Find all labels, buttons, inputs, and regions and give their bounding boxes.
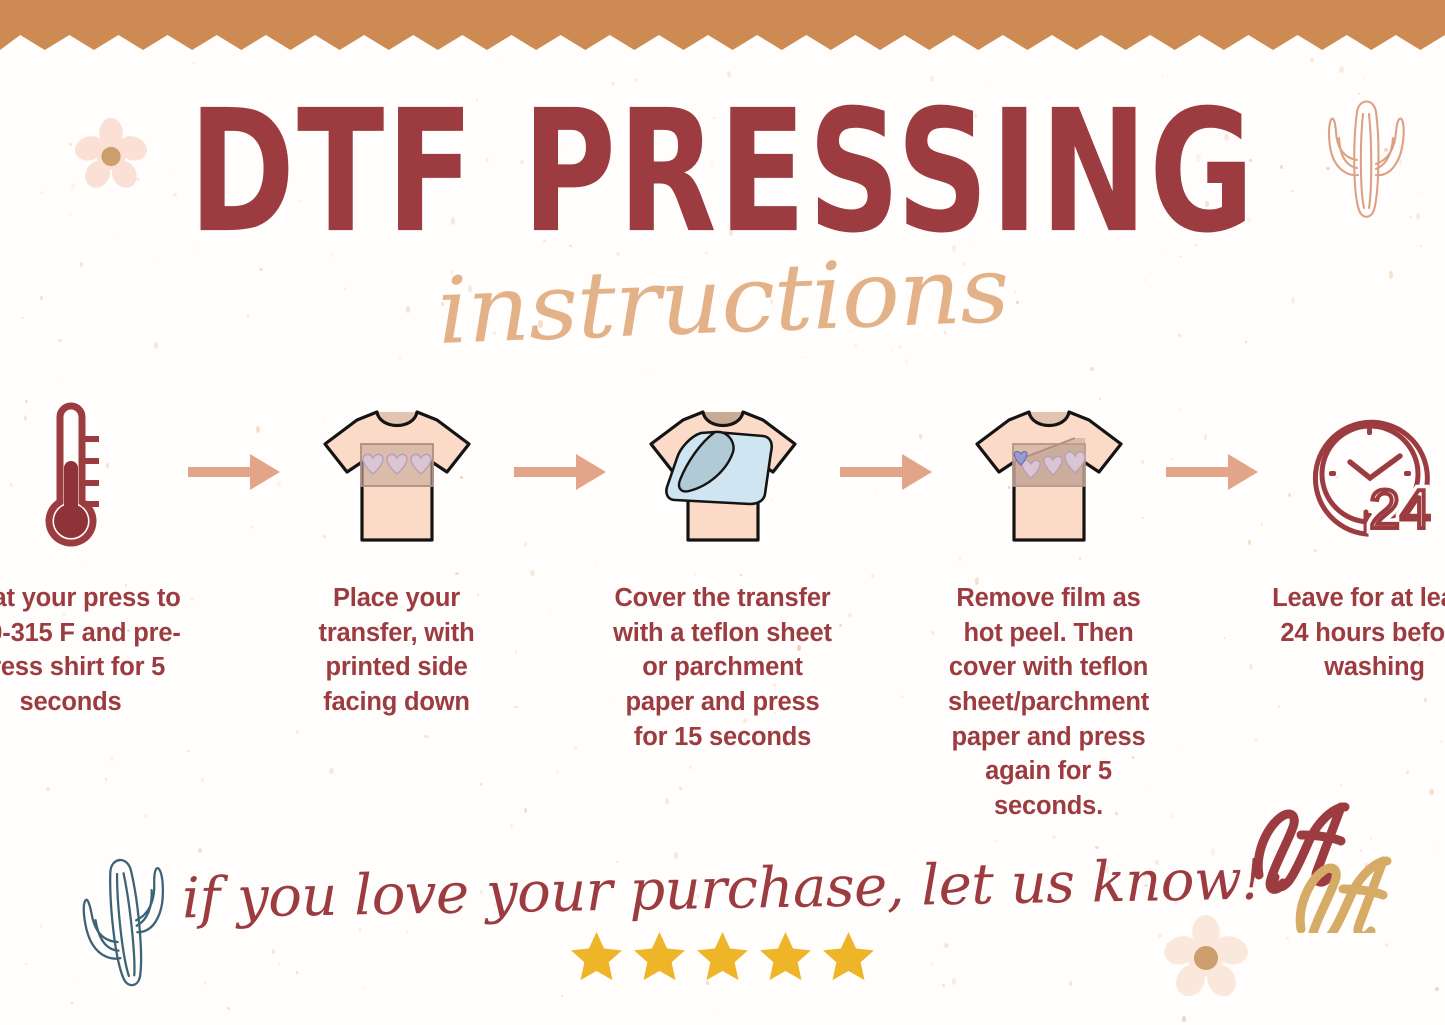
arrow-right-icon <box>1164 454 1260 490</box>
arrow-right-icon <box>838 454 934 490</box>
arrow-right-icon <box>512 454 608 490</box>
star-icon <box>821 930 876 983</box>
step-4: Remove film as hot peel. Then cover with… <box>934 392 1164 824</box>
top-zigzag-band <box>0 0 1445 50</box>
step-3-icon-wrap <box>643 392 803 557</box>
title-block: DTF PRESSING <box>0 88 1445 220</box>
tshirt-covered-with-teflon-icon <box>643 400 803 550</box>
step-1: Heat your press to 300-315 F and pre-pre… <box>0 392 186 720</box>
arrow-right-icon <box>186 454 282 490</box>
step-2: Place your transfer, with printed side f… <box>282 392 512 720</box>
step-2-icon-wrap <box>317 392 477 557</box>
step-3: Cover the transfer with a teflon sheet o… <box>608 392 838 754</box>
page-title: DTF PRESSING <box>22 88 1424 257</box>
step-1-icon-wrap <box>32 392 110 557</box>
footer-script-text: if you love your purchase, let us know! <box>181 848 1263 932</box>
subtitle-block: instructions <box>0 247 1445 354</box>
clock-24-hours-icon: 24 24 <box>1304 404 1445 546</box>
step-3-text: Cover the transfer with a teflon sheet o… <box>608 581 838 754</box>
star-icon <box>569 930 624 983</box>
thermometer-icon <box>32 399 110 551</box>
steps-row: Heat your press to 300-315 F and pre-pre… <box>0 392 1445 842</box>
step-5-text: Leave for at least 24 hours before washi… <box>1260 581 1445 685</box>
star-icon <box>758 930 813 983</box>
clock-24-label-outline: 24 <box>1369 478 1430 540</box>
poster-canvas: DTF PRESSING instructions <box>0 0 1445 1025</box>
star-rating <box>0 930 1445 983</box>
step-4-icon-wrap <box>969 392 1129 557</box>
footer-script-block: if you love your purchase, let us know! <box>0 857 1445 922</box>
step-5-icon-wrap: 24 24 <box>1304 392 1445 557</box>
step-5: 24 24 Leave for at least 24 hours before… <box>1260 392 1445 685</box>
star-icon <box>632 930 687 983</box>
star-icon <box>695 930 750 983</box>
tshirt-peel-film-icon <box>969 400 1129 550</box>
step-4-text: Remove film as hot peel. Then cover with… <box>934 581 1164 824</box>
page-subtitle: instructions <box>435 236 1010 365</box>
tshirt-with-transfer-icon <box>317 400 477 550</box>
step-1-text: Heat your press to 300-315 F and pre-pre… <box>0 581 186 720</box>
step-2-text: Place your transfer, with printed side f… <box>282 581 512 720</box>
